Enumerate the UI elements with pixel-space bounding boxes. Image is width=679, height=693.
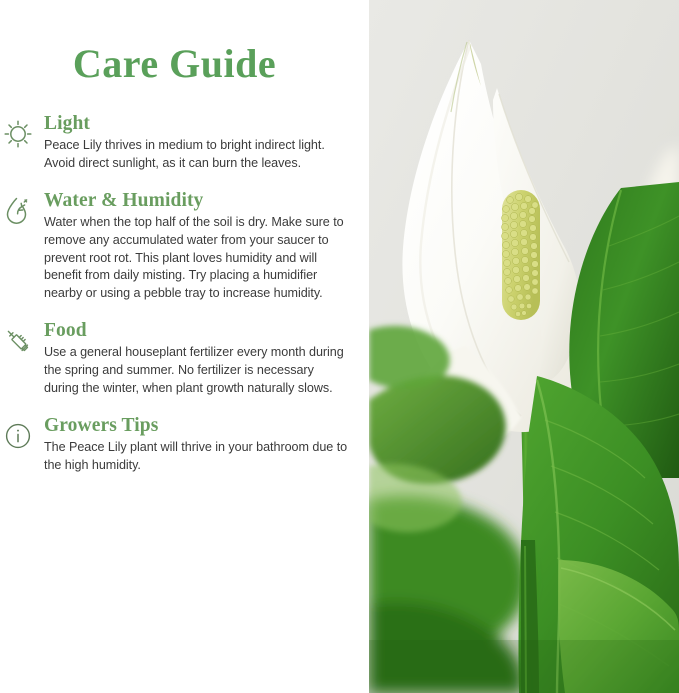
care-section-body: Use a general houseplant fertilizer ever… [44,344,351,398]
care-section-title: Light [44,113,351,134]
water-drop-icon [0,191,38,231]
info-circle-icon [0,416,38,456]
page-title: Care Guide [0,44,349,84]
care-section-title: Food [44,320,351,341]
care-guide-text-panel: Care Guide [0,0,369,693]
care-section-body: The Peace Lily plant will thrive in your… [44,439,351,475]
care-section-title: Water & Humidity [44,190,351,211]
care-section-water-humidity: Water & Humidity Water when the top half… [0,190,369,303]
care-guide-page: Care Guide [0,0,679,693]
care-section-growers-tips: Growers Tips The Peace Lily plant will t… [0,415,369,475]
plant-photo [369,0,679,693]
sun-icon [0,114,38,154]
syringe-icon [0,321,38,361]
care-sections-list: Light Peace Lily thrives in medium to br… [0,113,369,492]
care-section-light: Light Peace Lily thrives in medium to br… [0,113,369,173]
care-section-body: Water when the top half of the soil is d… [44,214,351,303]
care-section-title: Growers Tips [44,415,351,436]
care-section-food: Food Use a general houseplant fertilizer… [0,320,369,398]
care-section-body: Peace Lily thrives in medium to bright i… [44,137,351,173]
